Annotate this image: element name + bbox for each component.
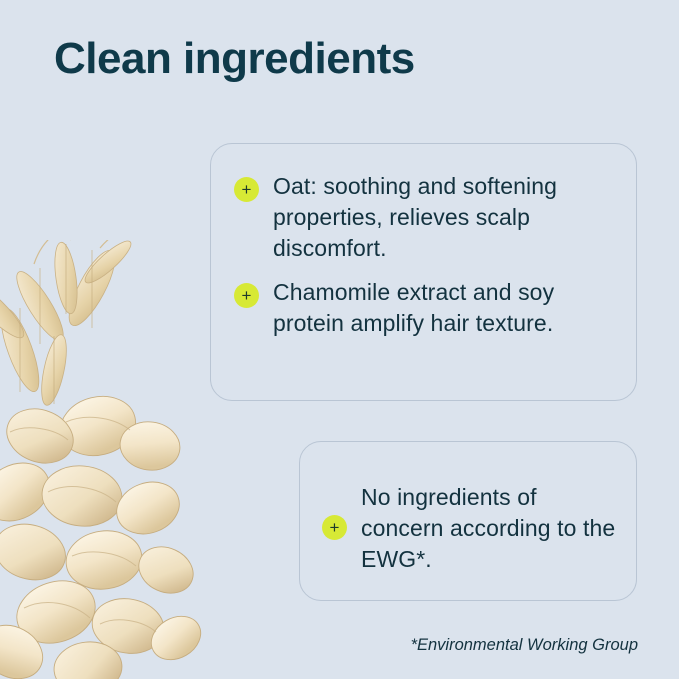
- plus-icon: +: [234, 177, 259, 202]
- infographic-page: Clean ingredients + Oat: soothing and so…: [0, 0, 679, 679]
- plus-icon: +: [234, 283, 259, 308]
- list-item-text: Oat: soothing and softening properties, …: [273, 171, 618, 264]
- list-item: + No ingredients of concern according to…: [322, 482, 621, 575]
- list-item-text: No ingredients of concern according to t…: [361, 482, 621, 575]
- ingredients-card: + Oat: soothing and softening properties…: [210, 143, 637, 401]
- ewg-card: + No ingredients of concern according to…: [299, 441, 637, 601]
- plus-icon: +: [322, 515, 347, 540]
- list-item-text: Chamomile extract and soy protein amplif…: [273, 277, 618, 339]
- list-item: + Chamomile extract and soy protein ampl…: [234, 277, 618, 339]
- footnote: *Environmental Working Group: [411, 636, 638, 655]
- list-item: + Oat: soothing and softening properties…: [234, 171, 618, 264]
- page-title: Clean ingredients: [54, 35, 415, 83]
